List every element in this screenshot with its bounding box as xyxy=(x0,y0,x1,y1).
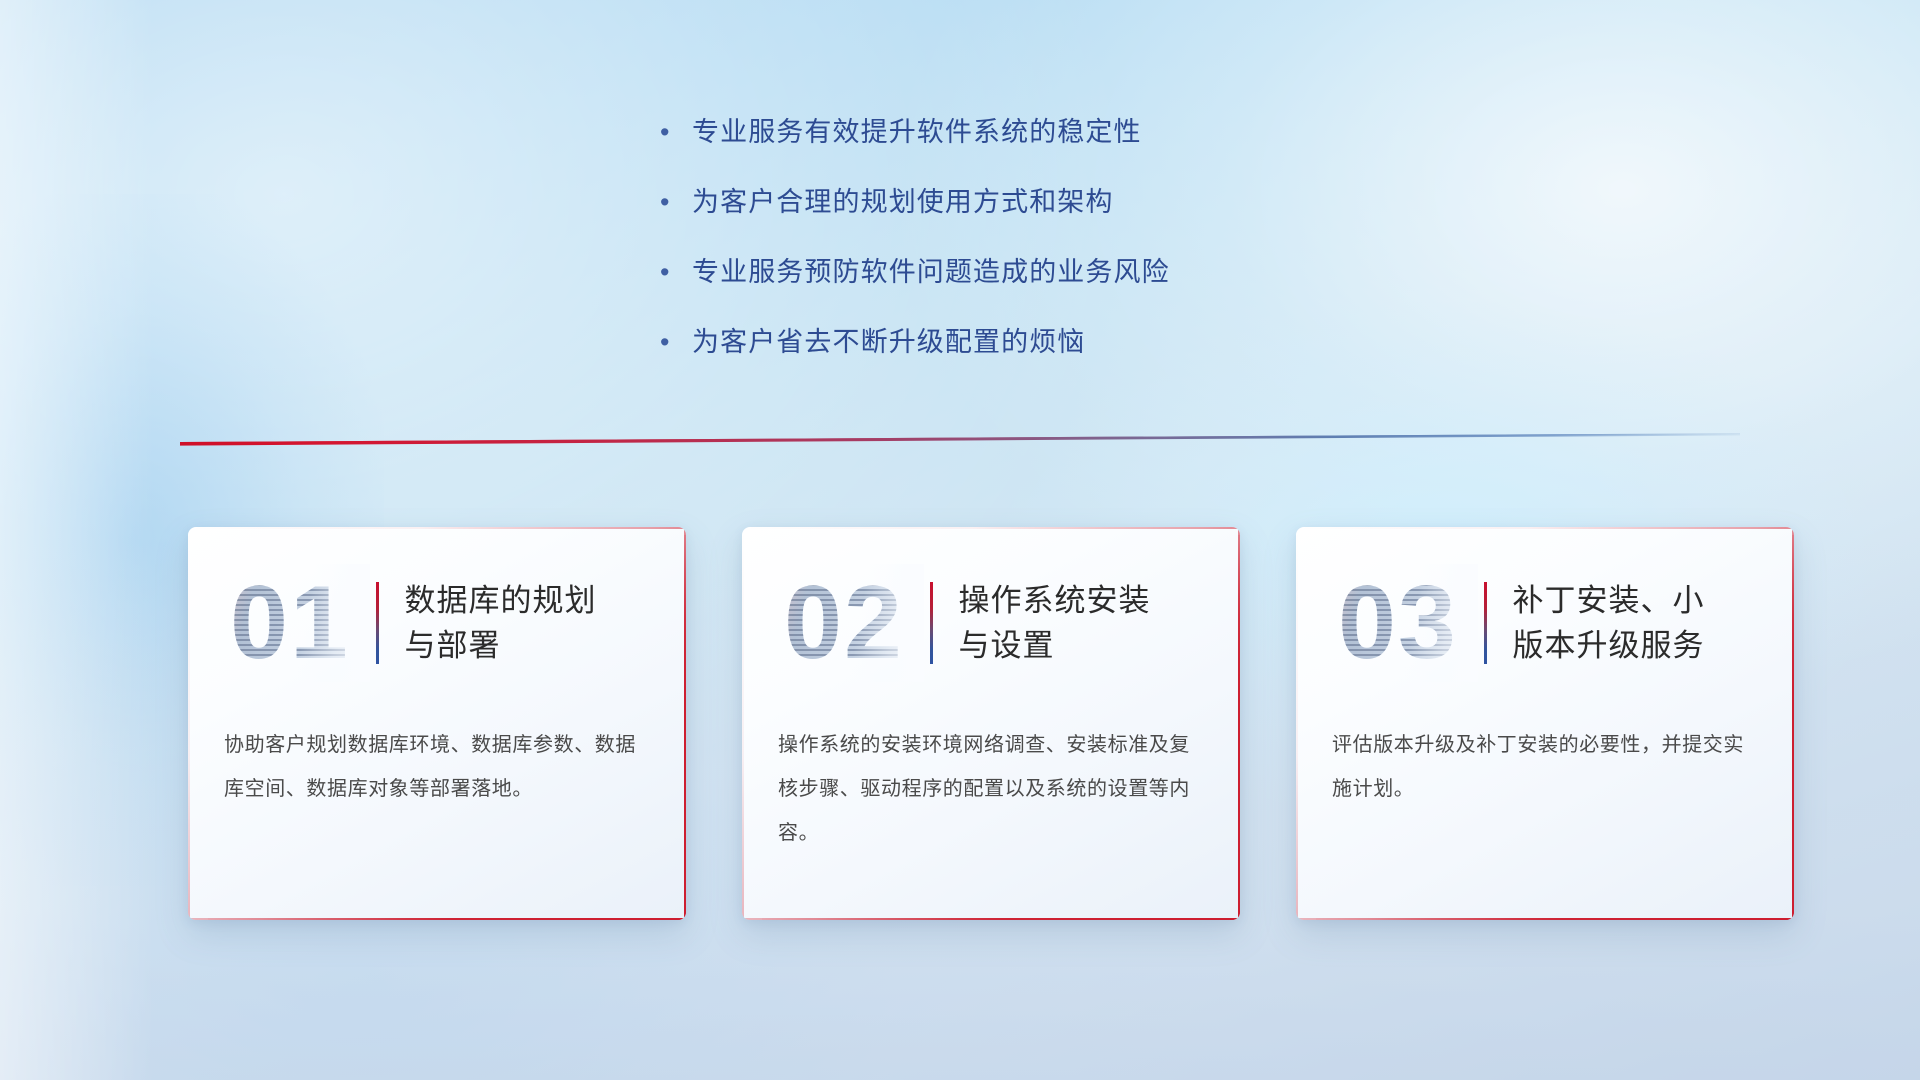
card-number-watermark: 02 xyxy=(764,564,924,682)
card-header: 01 数据库的规划 与部署 xyxy=(188,553,686,693)
card-header: 02 操作系统安装 与设置 xyxy=(742,553,1240,693)
card-accent-right-edge xyxy=(1238,535,1241,920)
card-accent-right-edge xyxy=(684,535,687,920)
card-number-watermark: 01 xyxy=(210,564,370,682)
card-header: 03 补丁安装、小 版本升级服务 xyxy=(1296,553,1794,693)
card-accent-bottom-edge xyxy=(762,918,1240,921)
service-card[interactable]: 01 数据库的规划 与部署 协助客户规划数据库环境、数据库参数、数据库空间、数据… xyxy=(188,527,686,920)
card-description: 操作系统的安装环境网络调查、安装标准及复核步骤、驱动程序的配置以及系统的设置等内… xyxy=(778,723,1206,855)
card-accent-bottom-edge xyxy=(1316,918,1794,921)
card-title: 操作系统安装 与设置 xyxy=(959,578,1241,668)
card-vertical-rule xyxy=(930,582,933,664)
card-description: 协助客户规划数据库环境、数据库参数、数据库空间、数据库对象等部署落地。 xyxy=(224,723,652,811)
service-card[interactable]: 03 补丁安装、小 版本升级服务 评估版本升级及补丁安装的必要性，并提交实施计划… xyxy=(1296,527,1794,920)
card-accent-right-edge xyxy=(1792,535,1795,920)
card-description: 评估版本升级及补丁安装的必要性，并提交实施计划。 xyxy=(1332,723,1760,811)
service-card-row: 01 数据库的规划 与部署 协助客户规划数据库环境、数据库参数、数据库空间、数据… xyxy=(0,0,1920,1080)
card-vertical-rule xyxy=(376,582,379,664)
card-number-text: 02 xyxy=(764,564,924,682)
card-accent-bottom-edge xyxy=(208,918,686,921)
card-number-watermark: 03 xyxy=(1318,564,1478,682)
card-title: 数据库的规划 与部署 xyxy=(405,578,687,668)
service-card[interactable]: 02 操作系统安装 与设置 操作系统的安装环境网络调查、安装标准及复核步骤、驱动… xyxy=(742,527,1240,920)
card-number-text: 01 xyxy=(210,564,370,682)
card-vertical-rule xyxy=(1484,582,1487,664)
card-number-text: 03 xyxy=(1318,564,1478,682)
card-title: 补丁安装、小 版本升级服务 xyxy=(1513,578,1795,668)
